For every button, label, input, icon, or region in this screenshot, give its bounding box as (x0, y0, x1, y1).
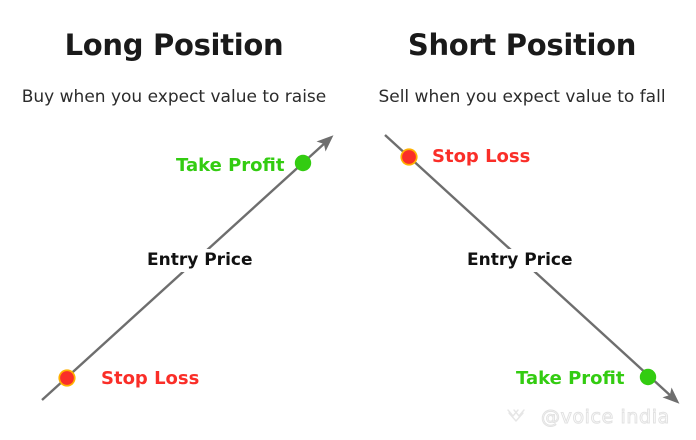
infographic-canvas: Long Position Buy when you expect value … (0, 0, 696, 440)
long-take-profit-marker (295, 155, 311, 171)
short-take-profit-label: Take Profit (516, 370, 624, 388)
short-stop-loss-label: Stop Loss (432, 148, 530, 166)
long-entry-price-label: Entry Price (142, 249, 258, 272)
long-take-profit-label: Take Profit (176, 157, 284, 175)
long-stop-loss-label: Stop Loss (101, 370, 199, 388)
short-stop-loss-marker (400, 148, 417, 165)
short-take-profit-marker (640, 369, 656, 385)
long-stop-loss-marker (58, 369, 75, 386)
short-entry-price-label: Entry Price (462, 249, 578, 272)
